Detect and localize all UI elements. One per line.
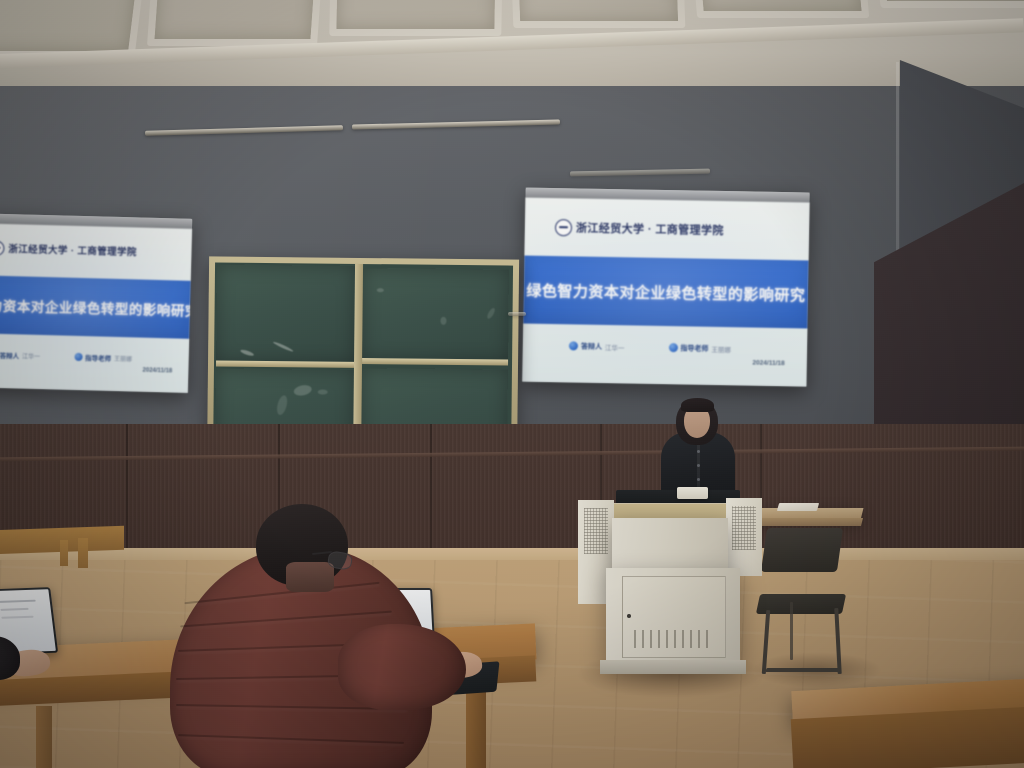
right-credit-advisor-value: 王丽娜 (711, 343, 731, 353)
right-slide-title-band: 绿色智力资本对企业绿色转型的影响研究 (523, 256, 808, 329)
left-credit-advisor-label: 指导老师 (85, 352, 111, 363)
back-bench-panel (78, 538, 88, 568)
left-slide-title: 绿色智力资本对企业绿色转型的影响研究 (0, 293, 192, 320)
foreground-person-arm (338, 624, 466, 710)
classroom-photo: 浙江经贸大学 · 工商管理学院 绿色智力资本对企业绿色转型的影响研究 答辩人 江… (0, 0, 1024, 768)
audience-desk-leg-right (466, 688, 486, 768)
right-slide-surface: 浙江经贸大学 · 工商管理学院 绿色智力资本对企业绿色转型的影响研究 答辩人 江… (522, 198, 809, 387)
left-slide-institution: 浙江经贸大学 · 工商管理学院 (8, 241, 137, 258)
foreground-person-neck (286, 562, 334, 592)
right-slide-header: 浙江经贸大学 · 工商管理学院 (525, 216, 809, 243)
left-credit-presenter-value: 江华一 (22, 351, 40, 360)
right-credit-presenter: 答辩人 江华一 (569, 341, 625, 352)
right-credit-advisor-label: 指导老师 (680, 343, 708, 353)
credit-bullet-icon (569, 341, 578, 350)
wall-bracket (508, 312, 526, 316)
chalkboard-divider-upper-right (362, 358, 508, 366)
left-credit-presenter: 答辩人 江华一 (0, 350, 40, 361)
podium-left-speaker-grille (584, 508, 608, 554)
right-slide-institution: 浙江经贸大学 · 工商管理学院 (576, 219, 724, 238)
left-credit-advisor-value: 王丽娜 (114, 353, 132, 362)
table-papers (777, 503, 819, 511)
right-slide-credits: 答辩人 江华一 指导老师 王丽娜 (523, 338, 807, 358)
podium-ventilation-slots (634, 630, 714, 648)
left-slide-surface: 浙江经贸大学 · 工商管理学院 绿色智力资本对企业绿色转型的影响研究 答辩人 江… (0, 223, 192, 393)
stage-table-edge (751, 518, 863, 526)
right-credit-presenter-value: 江华一 (605, 341, 625, 351)
stage-chair-rail (765, 668, 840, 672)
podium-base-plinth (600, 660, 746, 674)
back-bench-divider (60, 540, 68, 566)
chalkboard-divider-upper-left (216, 360, 354, 367)
left-credit-presenter-label: 答辩人 (0, 350, 19, 361)
right-credit-advisor: 指导老师 王丽娜 (668, 343, 731, 354)
left-slide-title-band: 绿色智力资本对企业绿色转型的影响研究 (0, 275, 191, 339)
university-logo-icon (0, 240, 5, 255)
podium-lock-icon[interactable] (627, 614, 631, 618)
podium-right-speaker-grille (732, 506, 756, 550)
left-slide-credits: 答辩人 江华一 指导老师 王丽娜 (0, 347, 189, 367)
right-slide-title: 绿色智力资本对企业绿色转型的影响研究 (526, 279, 805, 305)
left-credit-advisor: 指导老师 王丽娜 (74, 352, 132, 364)
credit-bullet-icon (668, 343, 677, 352)
stage-chair-back (761, 528, 843, 572)
left-slide-date: 2024/11/18 (142, 368, 172, 375)
credit-bullet-icon (74, 353, 82, 361)
podium-name-plate (677, 487, 708, 499)
university-logo-icon (555, 219, 572, 236)
audience-desk-leg-left (36, 706, 52, 768)
coffered-ceiling (0, 0, 1024, 96)
presenter-hair-fringe (681, 398, 714, 412)
left-projection-screen[interactable]: 浙江经贸大学 · 工商管理学院 绿色智力资本对企业绿色转型的影响研究 答辩人 江… (0, 213, 192, 393)
right-projection-screen[interactable]: 浙江经贸大学 · 工商管理学院 绿色智力资本对企业绿色转型的影响研究 答辩人 江… (522, 188, 809, 387)
stage-chair-leg-back-left (790, 602, 793, 660)
right-slide-date: 2024/11/18 (752, 360, 784, 368)
right-credit-presenter-label: 答辩人 (581, 341, 602, 351)
left-slide-header: 浙江经贸大学 · 工商管理学院 (0, 237, 192, 263)
